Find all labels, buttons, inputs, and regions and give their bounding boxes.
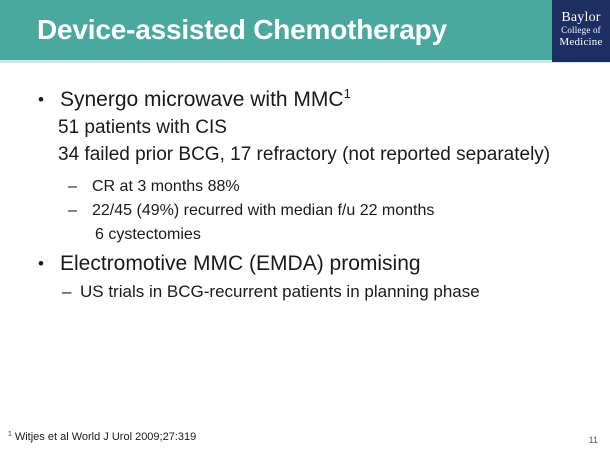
footnote: 1 Witjes et al World J Urol 2009;27:319 bbox=[8, 430, 196, 444]
logo-text-medicine: Medicine bbox=[552, 36, 610, 49]
bullet-item-synergo: • Synergo microwave with MMC1 bbox=[0, 86, 610, 113]
dash-icon: – bbox=[68, 199, 77, 222]
dash-icon: – bbox=[68, 175, 77, 198]
sub-item-failed-prior-bcg: 34 failed prior BCG, 17 refractory (not … bbox=[0, 142, 610, 168]
slide-body: • Synergo microwave with MMC1 51 patient… bbox=[0, 86, 610, 305]
slide: Device-assisted Chemotherapy Baylor Coll… bbox=[0, 0, 610, 458]
logo-text-baylor: Baylor bbox=[552, 10, 610, 25]
dash-icon: – bbox=[62, 279, 71, 304]
bullet-icon: • bbox=[38, 86, 44, 113]
dash-item-cr-3-months-label: CR at 3 months 88% bbox=[92, 178, 240, 195]
slide-number: 11 bbox=[589, 434, 598, 446]
sub-item-patients-cis: 51 patients with CIS bbox=[0, 115, 610, 141]
dash-item-us-trials-label: US trials in BCG-recurrent patients in p… bbox=[80, 282, 480, 301]
bullet-item-electromotive: • Electromotive MMC (EMDA) promising bbox=[0, 250, 610, 277]
baylor-college-of-medicine-logo: Baylor College of Medicine bbox=[552, 0, 610, 62]
footnote-citation: Witjes et al World J Urol 2009;27:319 bbox=[15, 431, 196, 443]
page-title: Device-assisted Chemotherapy bbox=[37, 13, 547, 47]
title-band-edge bbox=[0, 60, 610, 63]
bullet-item-synergo-label: Synergo microwave with MMC bbox=[60, 88, 344, 111]
sub-item-cystectomies: 6 cystectomies bbox=[0, 223, 610, 246]
dash-item-us-trials: – US trials in BCG-recurrent patients in… bbox=[0, 279, 610, 304]
dash-item-cr-3-months: – CR at 3 months 88% bbox=[0, 175, 610, 198]
footnote-number: 1 bbox=[8, 430, 12, 437]
bullet-icon: • bbox=[38, 250, 44, 277]
dash-item-recurrence: – 22/45 (49%) recurred with median f/u 2… bbox=[0, 199, 610, 222]
footnote-marker-1: 1 bbox=[344, 86, 351, 101]
bullet-item-electromotive-label: Electromotive MMC (EMDA) promising bbox=[60, 252, 421, 275]
dash-item-recurrence-label: 22/45 (49%) recurred with median f/u 22 … bbox=[92, 202, 434, 219]
logo-text-college-of: College of bbox=[552, 25, 610, 36]
